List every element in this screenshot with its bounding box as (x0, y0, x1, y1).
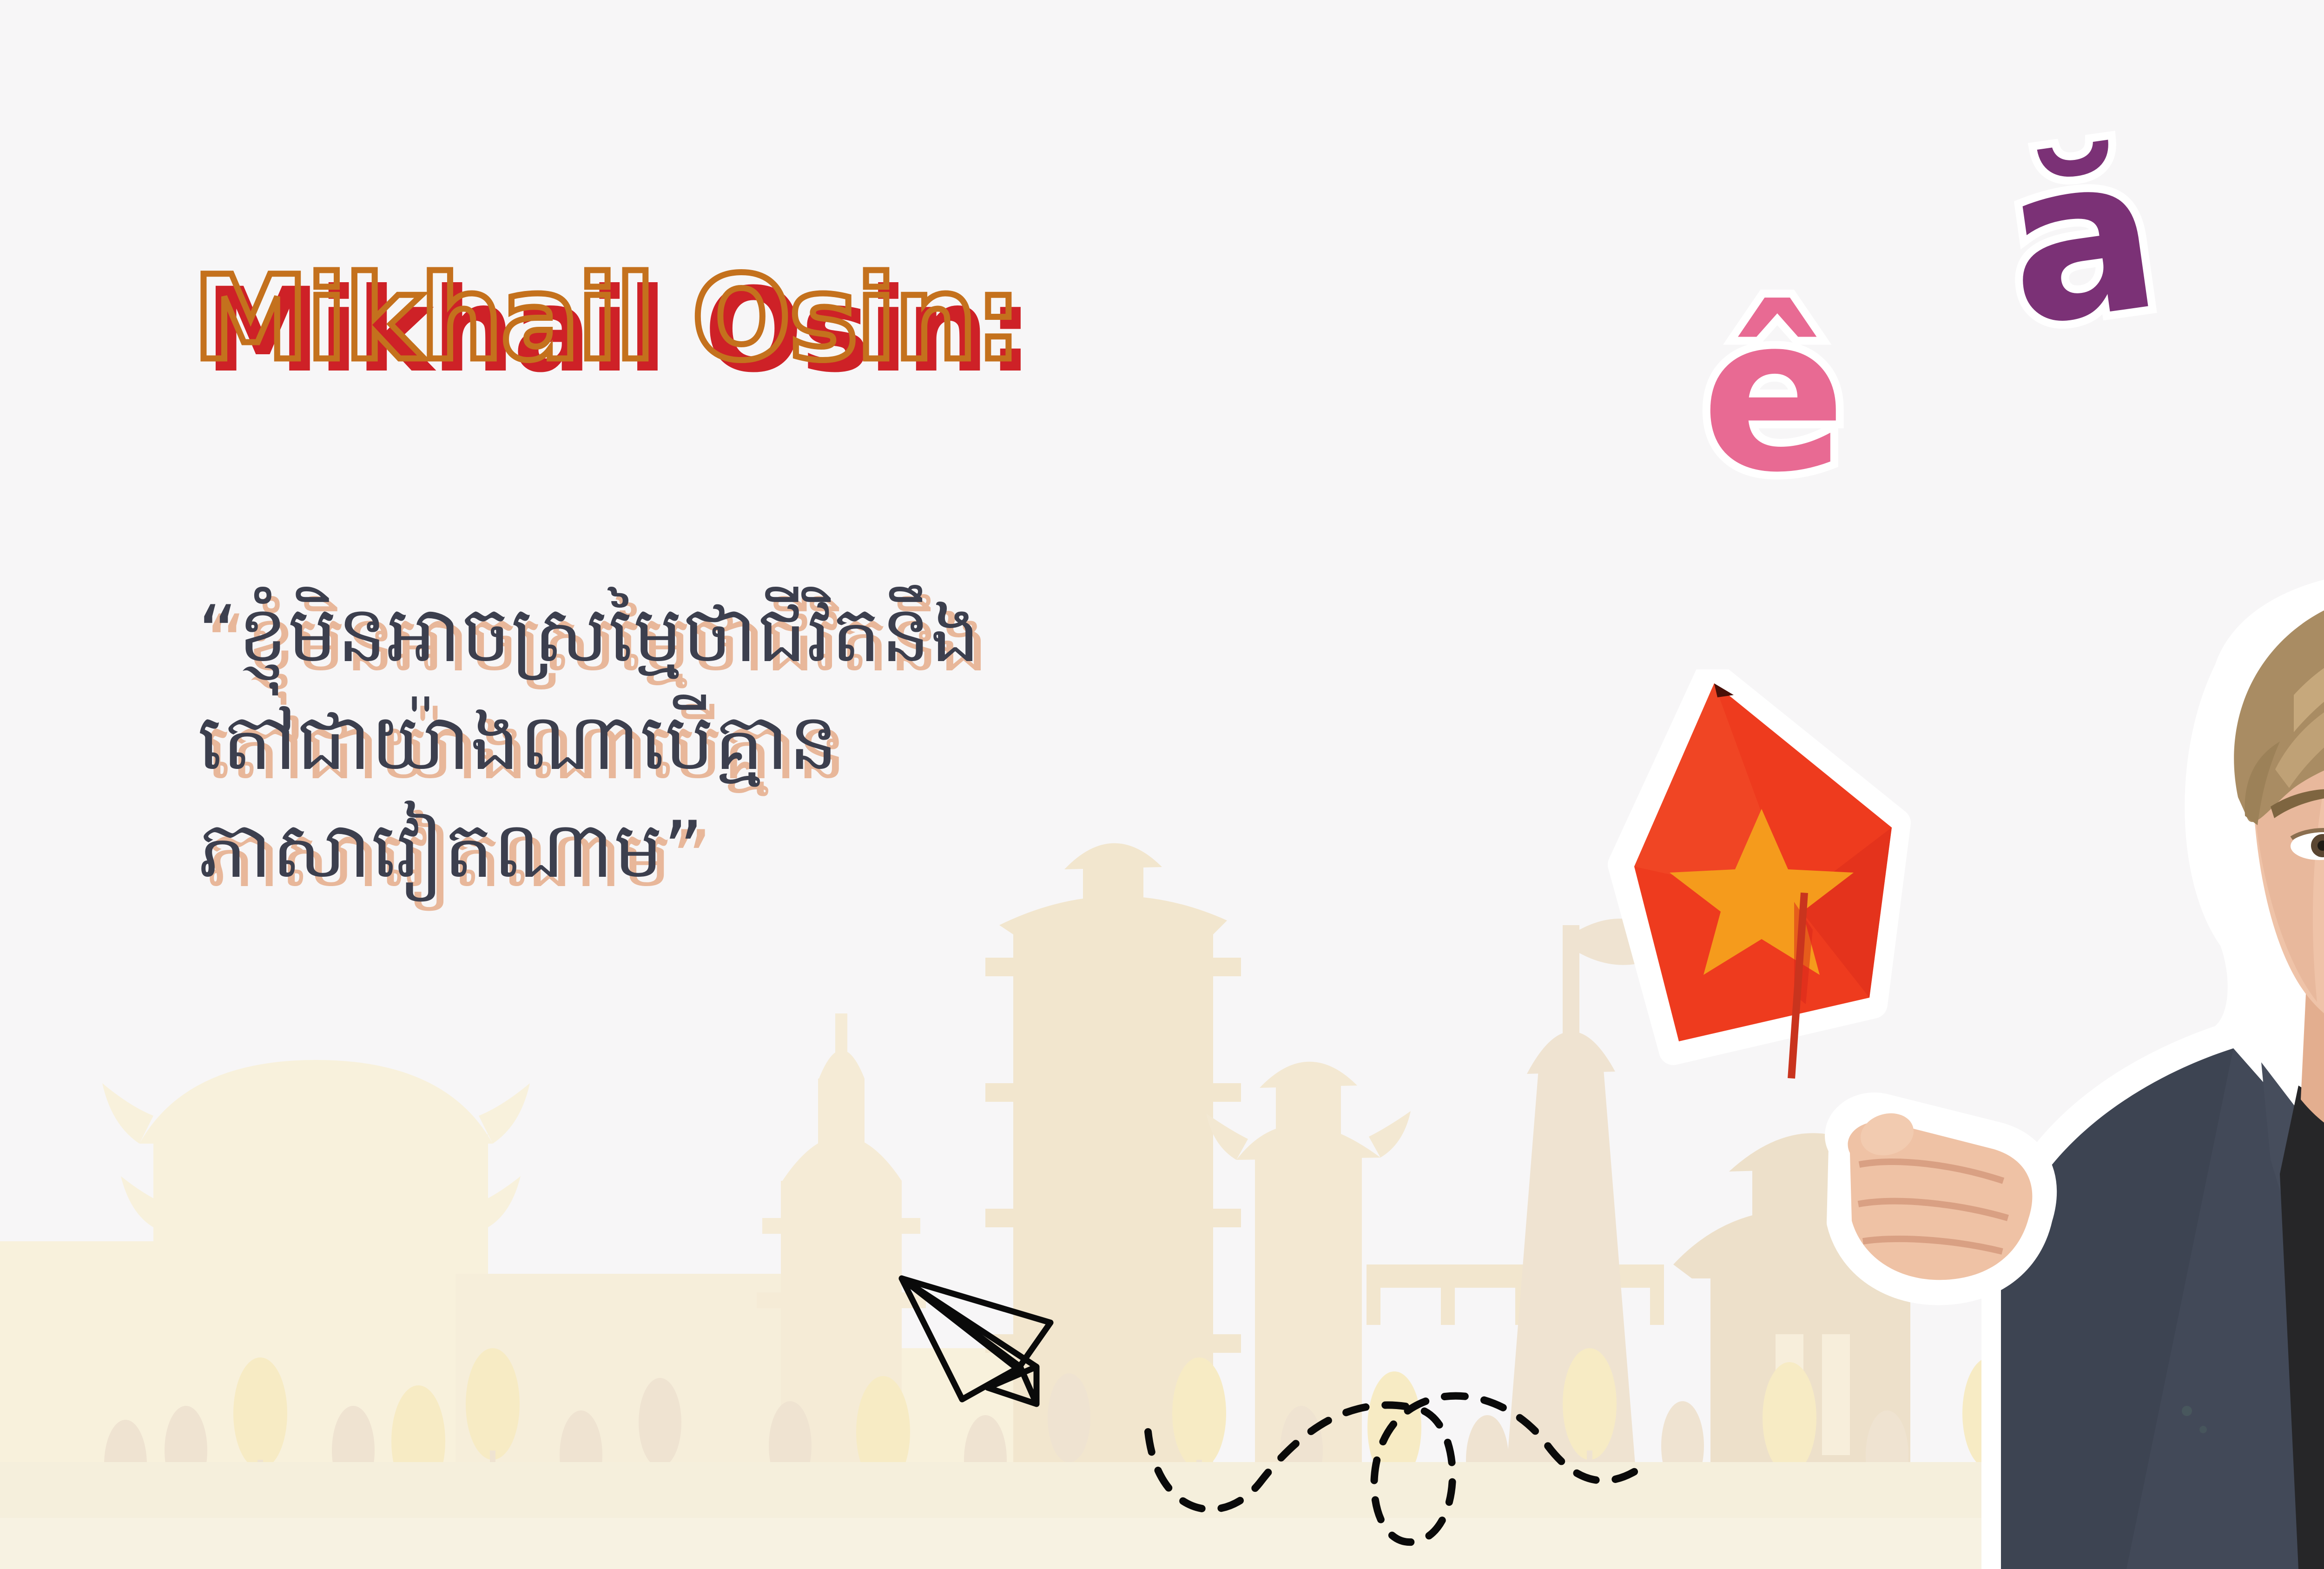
quote-line-text: “ខ្ញុំមិនអាចស្រម្មៃថាជីវិតនឹង (198, 583, 980, 685)
decor-letter-e-circumflex: ê (1701, 288, 1846, 502)
quote-line: “ខ្ញុំមិនអាចស្រម្មៃថាជីវិតនឹង “ខ្ញុំមិនអ… (198, 583, 1406, 691)
quote-line: ភាសាវៀតណាម” ភាសាវៀតណាម” (198, 799, 1406, 907)
hand-holding-flag (1799, 1065, 2087, 1353)
portrait-mikhail-osin (1973, 556, 2324, 1569)
paper-plane-icon (897, 1274, 1222, 1437)
flight-trail-dashed (1139, 1376, 1766, 1569)
pull-quote: “ខ្ញុំមិនអាចស្រម្មៃថាជីវិតនឹង “ខ្ញុំមិនអ… (198, 583, 1406, 907)
quote-line: តៅជាយ៉ាងណាបើគ្មាន តៅជាយ៉ាងណាបើគ្មាន (198, 691, 1406, 799)
quote-line-text: តៅជាយ៉ាងណាបើគ្មាន (198, 691, 838, 793)
headline-title-outline: Mikhail Osin: (193, 260, 1020, 377)
decor-letter-a-breve: ă (1994, 121, 2170, 358)
headline-title: Mikhail Osin: Mikhail Osin: (193, 260, 1355, 414)
vietnam-flag (1594, 669, 1948, 1088)
quote-line-text: ភាសាវៀតណាម” (198, 799, 704, 900)
poster-canvas: Mikhail Osin: Mikhail Osin: “ខ្ញុំមិនអាច… (0, 0, 2324, 1569)
